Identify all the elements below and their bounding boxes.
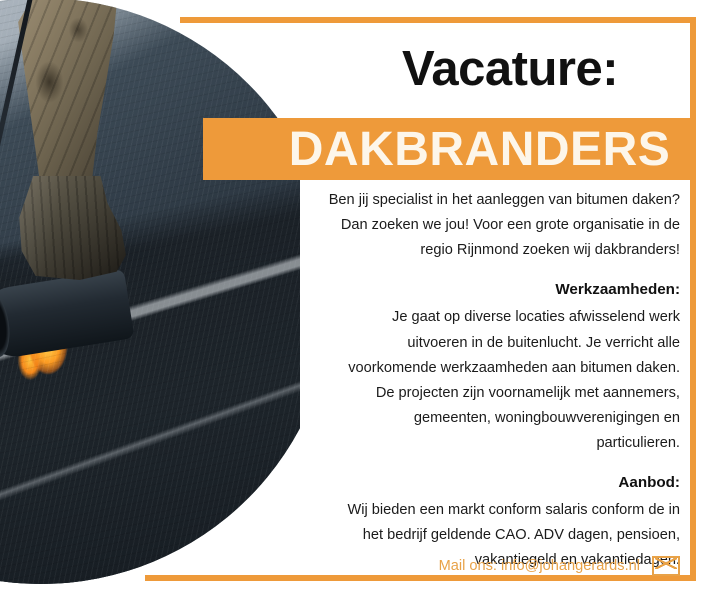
section-text-werkzaamheden: Je gaat op diverse locaties afwisselend … <box>328 305 680 456</box>
contact-row[interactable]: Mail ons: info@johangerards.nl <box>328 556 680 576</box>
vacancy-poster: Vacature: DAKBRANDERS Ben jij specialist… <box>0 0 726 609</box>
frame-right-line <box>690 17 696 581</box>
body-copy: Ben jij specialist in het aanleggen van … <box>328 188 680 587</box>
page-title-kicker: Vacature: <box>345 28 675 110</box>
envelope-icon[interactable] <box>652 556 680 576</box>
work-trouser <box>14 0 118 190</box>
section-heading-werkzaamheden: Werkzaamheden: <box>328 277 680 303</box>
roofer-photo <box>0 0 334 584</box>
section-heading-aanbod: Aanbod: <box>328 470 680 496</box>
worker-leg-and-boot <box>6 0 126 280</box>
role-title: DAKBRANDERS <box>229 122 671 177</box>
contact-email-label[interactable]: Mail ons: info@johangerards.nl <box>439 558 640 574</box>
role-banner: DAKBRANDERS <box>203 118 696 180</box>
work-boot <box>10 176 126 280</box>
intro-paragraph: Ben jij specialist in het aanleggen van … <box>328 188 680 263</box>
